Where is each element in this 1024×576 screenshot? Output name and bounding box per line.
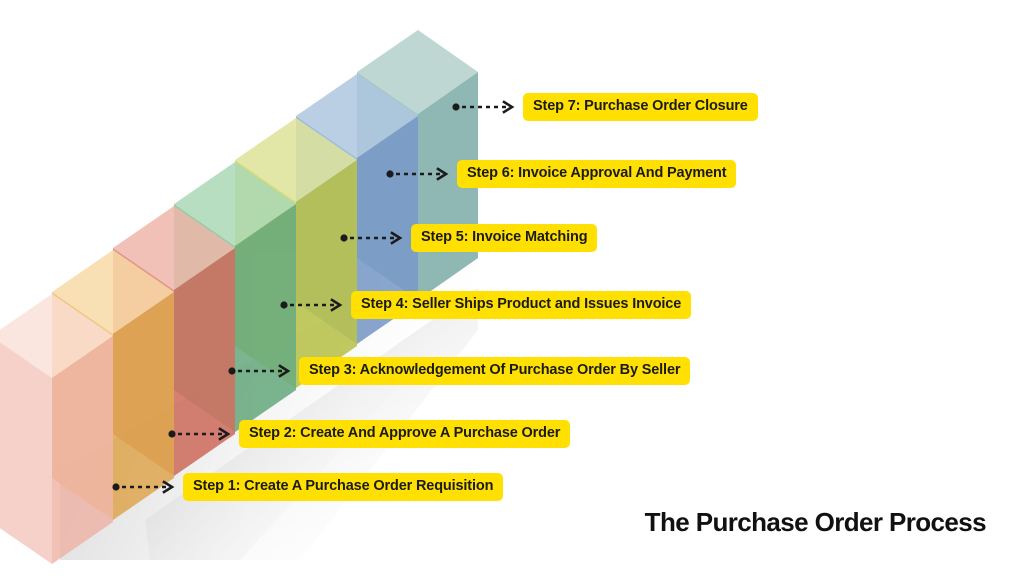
step-label-6[interactable]: Step 6: Invoice Approval And Payment <box>457 160 736 188</box>
page-title: The Purchase Order Process <box>645 507 986 538</box>
step-row-6[interactable]: Step 6: Invoice Approval And Payment <box>386 160 736 188</box>
block-step-1 <box>0 294 113 564</box>
dotted-arrow-icon-5 <box>340 231 406 245</box>
dotted-arrow-icon-1 <box>112 480 178 494</box>
step-label-4[interactable]: Step 4: Seller Ships Product and Issues … <box>351 291 691 319</box>
step-label-7[interactable]: Step 7: Purchase Order Closure <box>523 93 758 121</box>
step-row-5[interactable]: Step 5: Invoice Matching <box>340 224 597 252</box>
step-row-2[interactable]: Step 2: Create And Approve A Purchase Or… <box>168 420 570 448</box>
dotted-arrow-icon-6 <box>386 167 452 181</box>
step-row-3[interactable]: Step 3: Acknowledgement Of Purchase Orde… <box>228 357 690 385</box>
dotted-arrow-icon-7 <box>452 100 518 114</box>
dotted-arrow-icon-4 <box>280 298 346 312</box>
dotted-arrow-icon-2 <box>168 427 234 441</box>
dotted-arrow-icon-3 <box>228 364 294 378</box>
step-row-1[interactable]: Step 1: Create A Purchase Order Requisit… <box>112 473 503 501</box>
step-label-5[interactable]: Step 5: Invoice Matching <box>411 224 597 252</box>
step-label-1[interactable]: Step 1: Create A Purchase Order Requisit… <box>183 473 503 501</box>
step-label-2[interactable]: Step 2: Create And Approve A Purchase Or… <box>239 420 570 448</box>
step-row-7[interactable]: Step 7: Purchase Order Closure <box>452 93 758 121</box>
step-row-4[interactable]: Step 4: Seller Ships Product and Issues … <box>280 291 691 319</box>
step-label-3[interactable]: Step 3: Acknowledgement Of Purchase Orde… <box>299 357 690 385</box>
infographic-canvas: Step 7: Purchase Order Closure Step 6: I… <box>0 0 1024 576</box>
